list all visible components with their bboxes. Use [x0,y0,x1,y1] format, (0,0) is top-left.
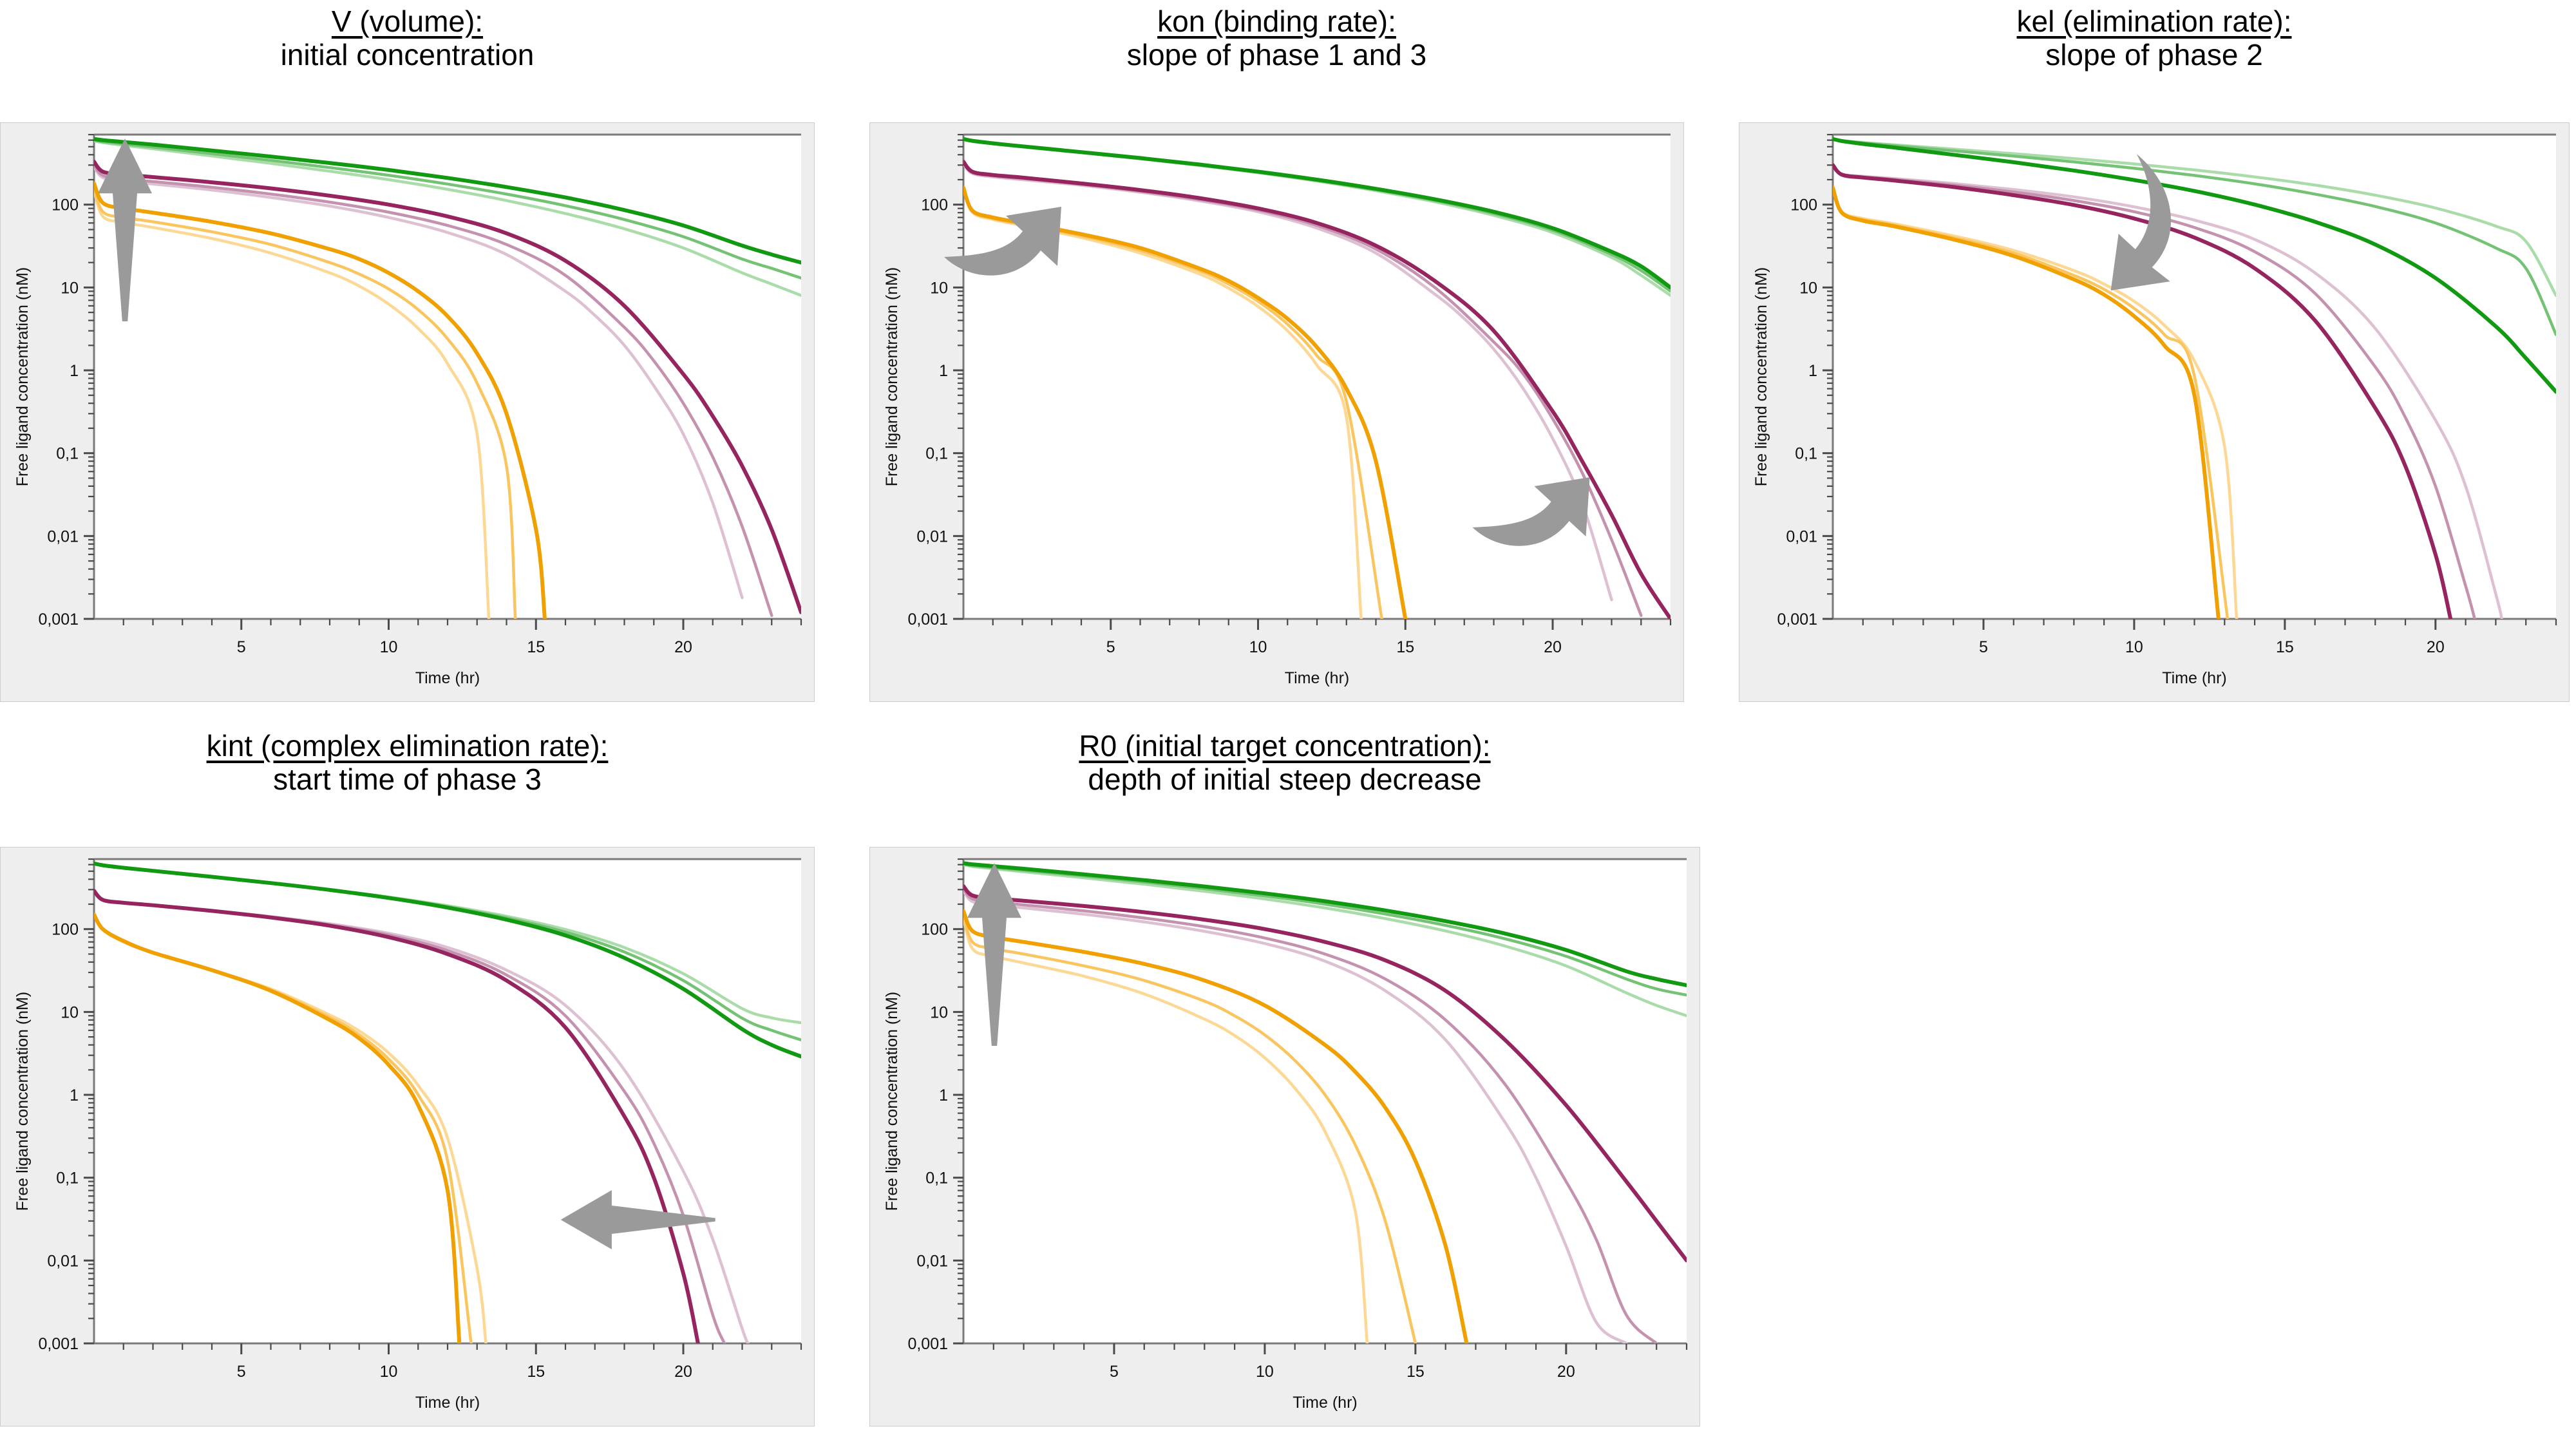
x-tick-label: 5 [237,638,246,656]
x-tick-label: 5 [1106,638,1115,656]
y-tick-label: 0,01 [916,527,948,545]
figure-root: V (volume): initial concentration kon (b… [0,0,2576,1449]
y-tick-label: 0,001 [38,1335,79,1353]
x-tick-label: 20 [674,1363,692,1381]
y-tick-label: 100 [52,196,79,214]
y-tick-label: 100 [1790,196,1817,214]
plot-svg: 1001010,10,010,0015101520Time (hr)Free l… [870,848,1701,1427]
x-axis-title: Time (hr) [415,669,480,687]
plot-svg: 1001010,10,010,0015101520Time (hr)Free l… [870,123,1685,703]
y-axis-title: Free ligand concentration (nM) [1752,267,1770,486]
y-tick-label: 0,01 [47,527,79,545]
y-tick-label: 0,1 [925,1170,948,1188]
x-tick-label: 15 [527,638,545,656]
x-tick-label: 20 [1544,638,1562,656]
plot-background [94,135,801,619]
x-tick-label: 10 [1256,1363,1274,1381]
x-tick-label: 5 [1110,1363,1119,1381]
y-tick-label: 0,01 [47,1252,79,1270]
plot-panel-kel-elimination-rate: 1001010,10,010,0015101520Time (hr)Free l… [1739,122,2570,702]
y-tick-label: 10 [930,279,948,297]
panel-title-line1: kel (elimination rate): [1739,5,2570,39]
plot-panel-v-volume: 1001010,10,010,0015101520Time (hr)Free l… [0,122,815,702]
panel-kon-binding-rate: kon (binding rate): slope of phase 1 and… [869,0,1684,121]
panel-title-line1: R0 (initial target concentration): [869,730,1700,763]
panel-title-line1: kon (binding rate): [869,5,1684,39]
y-tick-label: 100 [921,921,948,939]
x-tick-label: 20 [1557,1363,1575,1381]
y-tick-label: 0,001 [907,1335,948,1353]
panel-title: V (volume): initial concentration [0,0,815,121]
y-tick-label: 1 [70,1086,79,1104]
panel-title-line2: slope of phase 1 and 3 [869,39,1684,72]
x-axis-title: Time (hr) [1285,669,1349,687]
y-tick-label: 0,1 [56,1170,79,1188]
plot-svg: 1001010,10,010,0015101520Time (hr)Free l… [1,848,815,1427]
panel-title-line2: depth of initial steep decrease [869,763,1700,797]
y-tick-label: 0,1 [1795,445,1817,463]
y-tick-label: 10 [1799,279,1817,297]
panel-v-volume: V (volume): initial concentration [0,0,815,121]
panel-title: kint (complex elimination rate): start t… [0,724,815,846]
panel-title-line2: start time of phase 3 [0,763,815,797]
plot-panel-kint-complex-elimination-rate: 1001010,10,010,0015101520Time (hr)Free l… [0,847,815,1426]
x-tick-label: 5 [237,1363,246,1381]
y-tick-label: 0,001 [38,611,79,629]
x-tick-label: 15 [527,1363,545,1381]
y-tick-label: 10 [930,1003,948,1021]
panel-title: R0 (initial target concentration): depth… [869,724,1700,846]
plot-svg: 1001010,10,010,0015101520Time (hr)Free l… [1739,123,2570,703]
x-tick-label: 20 [674,638,692,656]
x-axis-title: Time (hr) [2162,669,2226,687]
y-tick-label: 0,01 [1786,527,1817,545]
y-axis-title: Free ligand concentration (nM) [883,992,901,1211]
y-axis-title: Free ligand concentration (nM) [883,267,901,486]
plot-svg: 1001010,10,010,0015101520Time (hr)Free l… [1,123,815,703]
x-axis-title: Time (hr) [415,1394,480,1412]
y-tick-label: 100 [52,921,79,939]
y-tick-label: 10 [61,279,79,297]
x-tick-label: 10 [2125,638,2143,656]
y-tick-label: 10 [61,1003,79,1021]
x-tick-label: 15 [2276,638,2294,656]
y-axis-title: Free ligand concentration (nM) [14,992,32,1211]
x-tick-label: 10 [1249,638,1267,656]
x-tick-label: 10 [380,1363,398,1381]
x-tick-label: 5 [1979,638,1988,656]
y-tick-label: 1 [939,1086,948,1104]
x-tick-label: 15 [1396,638,1414,656]
panel-r0-initial-target-concentration: R0 (initial target concentration): depth… [869,724,1700,846]
plot-panel-kon-binding-rate: 1001010,10,010,0015101520Time (hr)Free l… [869,122,1684,702]
y-tick-label: 1 [939,362,948,380]
x-tick-label: 10 [380,638,398,656]
x-tick-label: 15 [1406,1363,1425,1381]
panel-title-line2: slope of phase 2 [1739,39,2570,72]
plot-background [94,859,801,1343]
plot-panel-r0-initial-target-concentration: 1001010,10,010,0015101520Time (hr)Free l… [869,847,1700,1426]
plot-background [963,859,1687,1343]
y-tick-label: 0,1 [56,445,79,463]
y-axis-title: Free ligand concentration (nM) [14,267,32,486]
y-tick-label: 0,001 [1777,611,1817,629]
y-tick-label: 0,01 [916,1252,948,1270]
panel-title-line1: kint (complex elimination rate): [0,730,815,763]
panel-title: kel (elimination rate): slope of phase 2 [1739,0,2570,121]
x-tick-label: 20 [2427,638,2445,656]
x-axis-title: Time (hr) [1293,1394,1357,1412]
plot-background [963,135,1671,619]
panel-title: kon (binding rate): slope of phase 1 and… [869,0,1684,121]
panel-title-line2: initial concentration [0,39,815,72]
y-tick-label: 0,001 [907,611,948,629]
y-tick-label: 100 [921,196,948,214]
y-tick-label: 1 [1808,362,1817,380]
panel-kint-complex-elimination-rate: kint (complex elimination rate): start t… [0,724,815,846]
y-tick-label: 1 [70,362,79,380]
y-tick-label: 0,1 [925,445,948,463]
panel-title-line1: V (volume): [0,5,815,39]
panel-kel-elimination-rate: kel (elimination rate): slope of phase 2 [1739,0,2570,121]
